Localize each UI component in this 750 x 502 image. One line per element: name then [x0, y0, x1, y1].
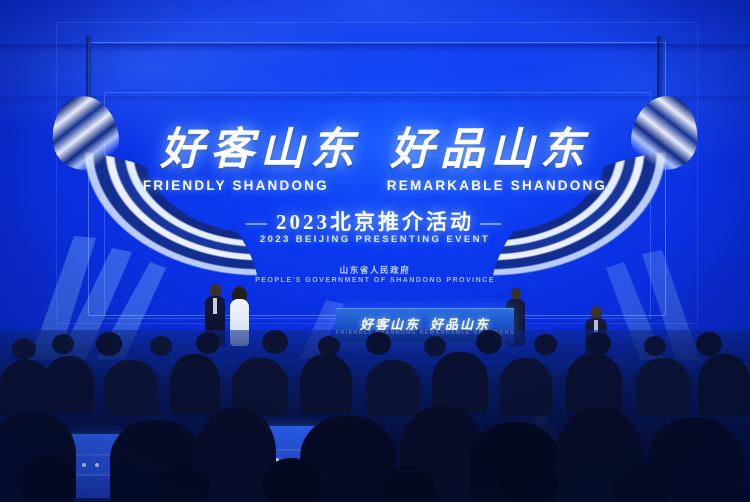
audience-person	[432, 352, 488, 414]
audience-person	[500, 460, 558, 502]
subtitle-left: FRIENDLY SHANDONG	[143, 178, 329, 193]
audience-person	[44, 356, 94, 414]
organizer-en: PEOPLE'S GOVERNMENT OF SHANDONG PROVINCE	[0, 277, 750, 284]
audience-person	[52, 334, 74, 354]
event-dash-right: —	[474, 210, 510, 234]
subtitle-row: FRIENDLY SHANDONG REMARKABLE SHANDONG	[0, 178, 750, 193]
audience-person	[566, 354, 622, 414]
audience-person	[262, 330, 288, 354]
audience-person	[644, 336, 666, 356]
event-photo: 好客山东好品山东 FRIENDLY SHANDONG REMARKABLE SH…	[0, 0, 750, 502]
event-title-en: 2023 BEIJING PRESENTING EVENT	[0, 234, 750, 245]
event-title-cn: —2023北京推介活动—	[0, 206, 750, 236]
audience-person	[262, 458, 322, 502]
audience-person	[476, 330, 502, 354]
audience-person	[150, 336, 172, 356]
event-title-cn-text: 2023北京推介活动	[276, 210, 474, 234]
audience-person	[614, 464, 670, 502]
audience-person	[424, 336, 446, 357]
event-dash-left: —	[240, 210, 276, 234]
audience-person	[156, 464, 210, 502]
audience-person	[698, 354, 750, 416]
audience-person	[500, 358, 552, 416]
organizer-cn: 山东省人民政府	[0, 264, 750, 276]
audience-person	[170, 354, 220, 414]
main-title: 好客山东好品山东	[0, 128, 750, 172]
audience-person	[96, 332, 122, 356]
audience-person	[696, 332, 722, 356]
audience-person	[636, 358, 690, 416]
audience-person	[104, 360, 158, 416]
audience-person	[12, 338, 36, 360]
audience-person	[366, 332, 391, 355]
audience-person	[366, 360, 420, 416]
audience-person	[196, 332, 220, 354]
subtitle-right: REMARKABLE SHANDONG	[387, 178, 607, 193]
audience-area	[0, 330, 750, 502]
backdrop-text-block: 好客山东好品山东 FRIENDLY SHANDONG REMARKABLE SH…	[0, 0, 750, 360]
audience-person	[534, 334, 557, 355]
audience-person	[300, 354, 352, 414]
main-title-left: 好客山东	[160, 125, 360, 174]
audience-person	[318, 336, 340, 356]
main-title-right: 好品山东	[390, 125, 590, 174]
audience-person	[586, 332, 611, 355]
audience-person	[18, 456, 76, 502]
